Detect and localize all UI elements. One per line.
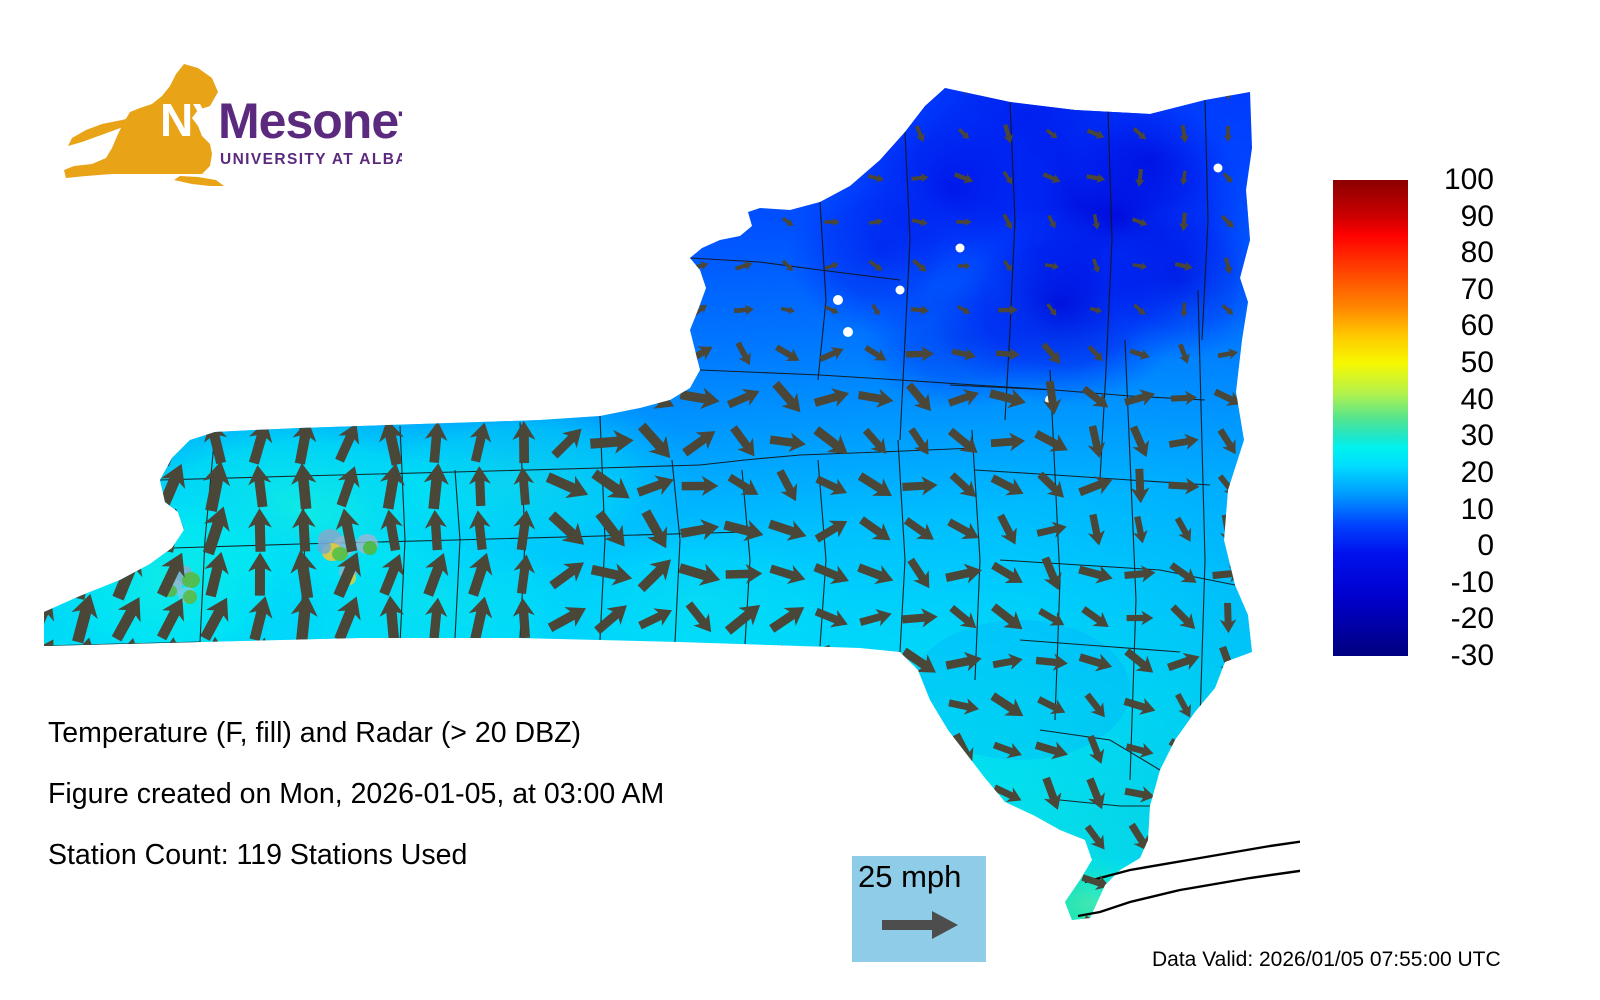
wind-arrow [560, 213, 576, 232]
wind-arrow [57, 896, 110, 940]
wind-arrow [550, 904, 586, 940]
wind-arrow [515, 304, 533, 315]
wind-arrow [1262, 125, 1283, 143]
wind-arrow [290, 334, 317, 373]
wind-arrow [1265, 256, 1279, 275]
wind-arrow [164, 257, 181, 275]
temperature-colorbar [1333, 180, 1408, 656]
colorbar-tick-minus20: -20 [1451, 604, 1494, 634]
wind-arrow [592, 904, 633, 940]
wind-arrow [1035, 914, 1069, 939]
wind-arrow [998, 83, 1017, 97]
wind-arrow [246, 376, 274, 421]
wind-arrow [199, 333, 232, 376]
wind-arrow [735, 85, 753, 95]
wind-arrow [772, 906, 804, 940]
wind-arrow [335, 639, 362, 686]
wind-arrow [341, 127, 356, 140]
wind-arrow [295, 213, 313, 232]
wind-arrow [809, 775, 854, 814]
wind-arrow [467, 639, 493, 685]
wind-arrow [467, 375, 493, 421]
wind-arrow [1258, 564, 1286, 584]
wind-arrow [378, 640, 405, 684]
wind-arrow [245, 903, 276, 940]
wind-arrow [32, 300, 48, 320]
wind-arrow [1168, 863, 1199, 901]
wind-arrow [296, 304, 311, 317]
wind-arrow [603, 172, 621, 184]
wind-arrow [1032, 864, 1072, 901]
colorbar-tick-labels: 1009080706050403020100-10-20-30 [1412, 165, 1498, 675]
wind-arrow [63, 371, 104, 425]
wind-arrow [516, 86, 531, 95]
wind-arrow [1264, 346, 1281, 362]
wind-arrow [1259, 471, 1286, 500]
wind-arrow [1259, 777, 1285, 811]
wind-arrow [602, 256, 622, 276]
wind-arrow [381, 301, 402, 319]
wind-arrow [1262, 82, 1281, 99]
wind-arrow [427, 216, 446, 228]
colorbar-tick-80: 80 [1461, 238, 1494, 268]
wind-arrow [34, 126, 45, 141]
wind-arrow [31, 256, 48, 277]
caption-title: Temperature (F, fill) and Radar (> 20 DB… [48, 718, 808, 748]
wind-arrow [515, 260, 533, 272]
wind-arrow [1121, 908, 1158, 940]
wind-arrow [34, 81, 46, 98]
wind-arrow [166, 303, 177, 318]
wind-arrow [382, 124, 402, 144]
wind-arrow [62, 457, 107, 515]
wind-arrow [334, 334, 362, 373]
wind-arrow [516, 125, 532, 143]
wind-arrow [514, 170, 535, 185]
wind-arrow [208, 300, 224, 321]
wind-arrow [1256, 383, 1287, 413]
wind-arrow [154, 899, 191, 940]
wind-arrow [1266, 303, 1278, 317]
wind-arrow [423, 334, 449, 373]
wind-arrow [206, 126, 226, 142]
wind-arrow [510, 904, 538, 940]
wind-arrow [913, 84, 927, 96]
data-valid-timestamp: Data Valid: 2026/01/05 07:55:00 UTC [1152, 948, 1501, 972]
wind-arrow [858, 649, 894, 674]
wind-arrow [901, 731, 938, 768]
wind-arrow [119, 82, 136, 97]
wind-arrow [121, 258, 135, 273]
wind-arrow [771, 642, 806, 682]
wind-arrow [1211, 695, 1245, 718]
wind-arrow [194, 898, 238, 940]
wind-arrow [725, 651, 764, 674]
wind-arrow [121, 171, 135, 186]
wind-arrow [209, 216, 223, 228]
wind-arrow [601, 302, 623, 318]
wind-arrow [296, 169, 312, 186]
wind-arrow [428, 300, 443, 319]
wind-arrow [693, 129, 707, 138]
wind-arrow [383, 168, 401, 188]
wind-arrow [689, 80, 712, 100]
wind-arrow [1167, 823, 1201, 853]
wind-arrow [1210, 824, 1247, 852]
wind-arrow [291, 376, 318, 420]
wind-arrow [779, 83, 797, 97]
wind-arrow [197, 372, 235, 424]
wind-arrow [560, 260, 576, 273]
wind-arrow [417, 637, 454, 686]
wind-arrow [205, 255, 226, 277]
wind-arrow [557, 79, 578, 101]
wind-arrow [512, 337, 536, 371]
wind-arrow [473, 216, 488, 229]
wind-arrow [512, 642, 536, 683]
wind-arrow [637, 651, 674, 674]
wind-arrow [118, 125, 137, 144]
wind-key-arrow-icon [882, 908, 960, 947]
wind-arrow [79, 82, 89, 98]
wind-arrow [1212, 915, 1244, 936]
wind-arrow [812, 867, 853, 897]
wind-arrow [110, 416, 145, 468]
wind-arrow [382, 258, 403, 274]
colorbar-tick-60: 60 [1461, 311, 1494, 341]
wind-arrow [944, 776, 984, 811]
wind-arrow [78, 258, 89, 273]
wind-arrow [734, 170, 754, 187]
wind-arrow [810, 821, 853, 856]
wind-arrow [385, 81, 399, 98]
wind-arrow [856, 817, 895, 858]
wind-arrow [648, 215, 665, 228]
wind-arrow [75, 125, 93, 144]
wind-arrow [255, 126, 265, 142]
wind-arrow [817, 643, 847, 681]
wind-arrow [813, 729, 850, 772]
wind-arrow [472, 257, 487, 275]
wind-arrow [990, 867, 1026, 897]
wind-arrow [339, 255, 358, 277]
wind-arrow [645, 80, 667, 101]
colorbar-tick-minus30: -30 [1451, 641, 1494, 671]
caption-station-count: Station Count: 119 Stations Used [48, 840, 808, 870]
wind-arrow [289, 639, 318, 685]
wind-arrow [105, 897, 151, 940]
wind-arrow [1045, 82, 1058, 97]
wind-arrow [1255, 429, 1290, 454]
wind-arrow [517, 217, 531, 227]
wind-arrow [1132, 80, 1149, 101]
wind-arrow [648, 302, 665, 317]
wind-arrow [868, 128, 884, 141]
wind-arrow [601, 79, 622, 100]
wind-arrow [1167, 779, 1201, 810]
wind-arrow [824, 128, 840, 139]
colorbar-tick-0: 0 [1477, 531, 1494, 561]
wind-arrow [426, 84, 446, 96]
wind-arrow [341, 214, 355, 229]
wind-arrow [472, 127, 488, 140]
colorbar-tick-30: 30 [1461, 421, 1494, 451]
wind-arrow [67, 503, 101, 556]
wind-arrow [473, 81, 487, 98]
wind-arrow [242, 635, 278, 689]
wind-arrow [24, 460, 55, 513]
wind-arrow [114, 374, 142, 422]
wind-arrow [603, 215, 620, 229]
wind-arrow [1177, 82, 1192, 97]
wind-arrow [282, 900, 326, 940]
colorbar-tick-50: 50 [1461, 348, 1494, 378]
wind-arrow [589, 384, 634, 412]
wind-arrow [164, 171, 180, 184]
wind-arrow [250, 301, 270, 320]
wind-key-label: 25 mph [858, 860, 961, 894]
wind-arrow [15, 500, 64, 561]
wind-arrow [28, 335, 51, 374]
wind-arrow [860, 687, 892, 725]
wind-arrow [857, 777, 895, 811]
wind-arrow [733, 124, 755, 144]
wind-arrow [1168, 913, 1199, 939]
wind-arrow [1255, 514, 1289, 546]
wind-arrow [341, 173, 355, 182]
colorbar-tick-90: 90 [1461, 202, 1494, 232]
wind-arrow [546, 641, 591, 684]
wind-arrow [548, 692, 589, 720]
wind-arrow [117, 335, 139, 372]
wind-arrow [210, 171, 222, 186]
wind-arrow [253, 258, 268, 274]
wind-arrow [990, 818, 1027, 858]
wind-arrow [813, 690, 851, 721]
wind-arrow [473, 305, 488, 315]
wind-arrow [1267, 215, 1277, 228]
wind-arrow [255, 215, 264, 229]
figure-caption: Temperature (F, fill) and Radar (> 20 DB… [48, 718, 808, 901]
wind-arrow [421, 376, 451, 419]
weather-map-figure: NYS Mesonet UNIVERSITY AT ALBANY [0, 0, 1600, 1000]
wind-arrow [156, 371, 189, 424]
wind-arrow [384, 218, 400, 227]
colorbar-tick-20: 20 [1461, 458, 1494, 488]
wind-arrow [74, 299, 94, 321]
wind-arrow [368, 899, 415, 940]
wind-arrow [780, 126, 796, 142]
wind-arrow [420, 904, 452, 940]
colorbar-tick-40: 40 [1461, 385, 1494, 415]
caption-created: Figure created on Mon, 2026-01-05, at 03… [48, 779, 808, 809]
wind-arrow [458, 901, 502, 940]
wind-arrow [68, 418, 100, 467]
wind-arrow [679, 904, 720, 940]
colorbar-tick-10: 10 [1461, 495, 1494, 525]
wind-arrow [340, 82, 356, 97]
wind-arrow [814, 908, 851, 940]
wind-arrow [552, 340, 584, 368]
wind-arrow [604, 129, 619, 139]
wind-arrow [723, 904, 765, 940]
wind-arrow [547, 374, 589, 421]
wind-arrow [990, 909, 1027, 940]
colorbar-tick-70: 70 [1461, 275, 1494, 305]
wind-arrow [869, 85, 883, 95]
wind-arrow [113, 460, 142, 512]
wind-arrow [295, 84, 312, 95]
wind-arrow [208, 82, 224, 99]
wind-arrow [249, 334, 271, 373]
wind-arrow [328, 371, 367, 424]
wind-arrow [824, 171, 840, 186]
wind-arrow [507, 374, 542, 422]
wind-arrow [559, 171, 577, 186]
wind-arrow [163, 125, 180, 143]
wind-arrow [1213, 737, 1242, 764]
colorbar-tick-100: 100 [1444, 165, 1494, 195]
wind-arrow [824, 83, 840, 97]
wind-arrow [645, 124, 667, 144]
wind-arrow [340, 305, 355, 316]
wind-arrow [1261, 168, 1283, 188]
wind-arrow [374, 372, 411, 424]
wind-arrow [23, 416, 57, 468]
wind-arrow [637, 906, 674, 940]
colorbar-tick-minus10: -10 [1451, 568, 1494, 598]
wind-arrow [32, 169, 48, 188]
wind-arrow [108, 502, 149, 557]
wind-arrow [724, 692, 763, 721]
wind-arrow [297, 259, 311, 273]
wind-arrow [12, 897, 68, 940]
wind-arrow [781, 171, 796, 185]
wind-arrow [899, 777, 942, 812]
wind-arrow [560, 127, 575, 141]
wind-arrow [640, 339, 673, 370]
wind-arrow [1256, 910, 1287, 940]
wind-arrow [22, 547, 59, 601]
wind-arrow [77, 215, 91, 230]
wind-arrow [1255, 867, 1288, 897]
wind-arrow [162, 81, 183, 99]
wind-arrow [693, 172, 708, 184]
wind-arrow [429, 257, 444, 274]
wind-arrow [120, 301, 135, 319]
wind-arrow [692, 216, 708, 227]
wind-arrow [900, 819, 941, 856]
wind-arrow [473, 170, 487, 187]
wind-arrow [69, 332, 100, 377]
wind-arrow [162, 212, 182, 233]
wind-arrow [76, 168, 92, 189]
wind-arrow [1257, 653, 1288, 670]
wind-arrow [559, 301, 577, 320]
wind-arrow [157, 636, 187, 687]
wind-arrow [296, 125, 311, 143]
wind-arrow [680, 649, 720, 676]
wind-arrow [1257, 696, 1288, 717]
wind-arrow [157, 332, 186, 375]
wind-arrow [426, 171, 447, 185]
wind-arrow [331, 903, 364, 940]
wind-speed-key: 25 mph [852, 856, 986, 962]
wind-arrow [380, 335, 404, 372]
wind-arrow [27, 374, 54, 422]
wind-arrow [426, 127, 447, 141]
wind-arrow [1257, 736, 1286, 764]
wind-arrow [253, 84, 268, 95]
wind-arrow [590, 640, 633, 684]
wind-arrow [859, 731, 892, 770]
wind-arrow [251, 168, 268, 188]
wind-arrow [947, 820, 982, 856]
wind-arrow [1257, 610, 1287, 627]
wind-arrow [1088, 83, 1103, 96]
wind-arrow [119, 212, 138, 232]
colorbar-gradient [1333, 180, 1408, 656]
wind-arrow [201, 636, 231, 687]
wind-arrow [596, 344, 629, 364]
wind-arrow [468, 337, 493, 371]
wind-arrow [1212, 782, 1245, 806]
wind-arrow [650, 261, 663, 270]
wind-arrow [648, 173, 664, 183]
wind-arrow [33, 212, 47, 232]
